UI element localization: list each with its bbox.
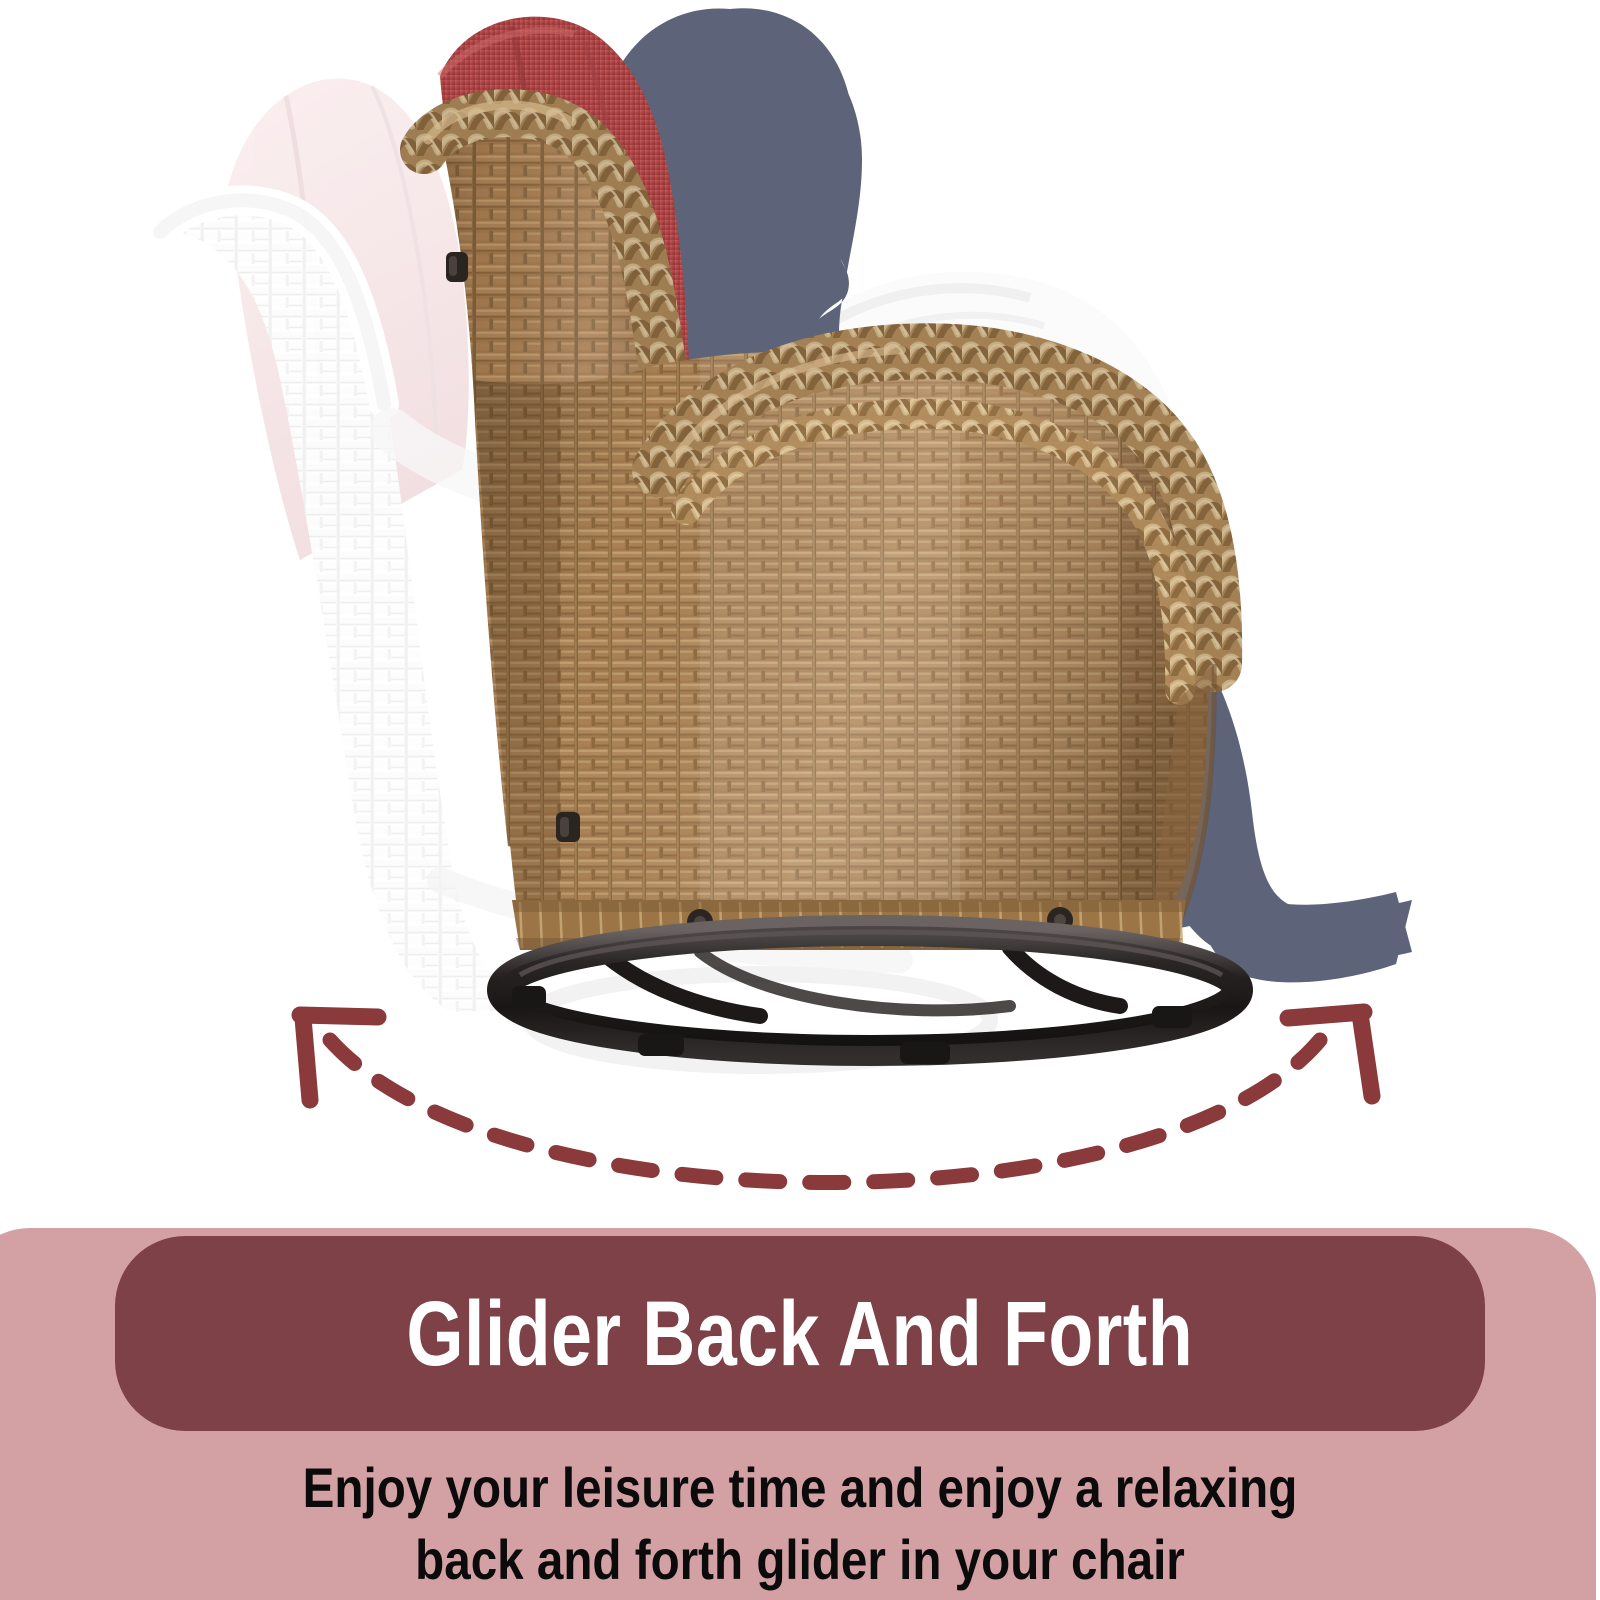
bolt-upper	[446, 252, 468, 282]
product-feature-graphic: Glider Back And Forth Enjoy your leisure…	[0, 0, 1600, 1600]
bolt-lower-side	[556, 812, 580, 842]
chair-illustration	[0, 0, 1600, 1240]
hero-product-image	[0, 0, 1600, 1240]
feature-subtitle: Enjoy your leisure time and enjoy a rela…	[0, 1452, 1600, 1595]
feature-title: Glider Back And Forth	[407, 1288, 1194, 1380]
feature-subtitle-line-2: back and forth glider in your chair	[120, 1524, 1480, 1596]
feature-subtitle-line-1: Enjoy your leisure time and enjoy a rela…	[120, 1452, 1480, 1524]
feature-title-pill: Glider Back And Forth	[115, 1236, 1485, 1431]
